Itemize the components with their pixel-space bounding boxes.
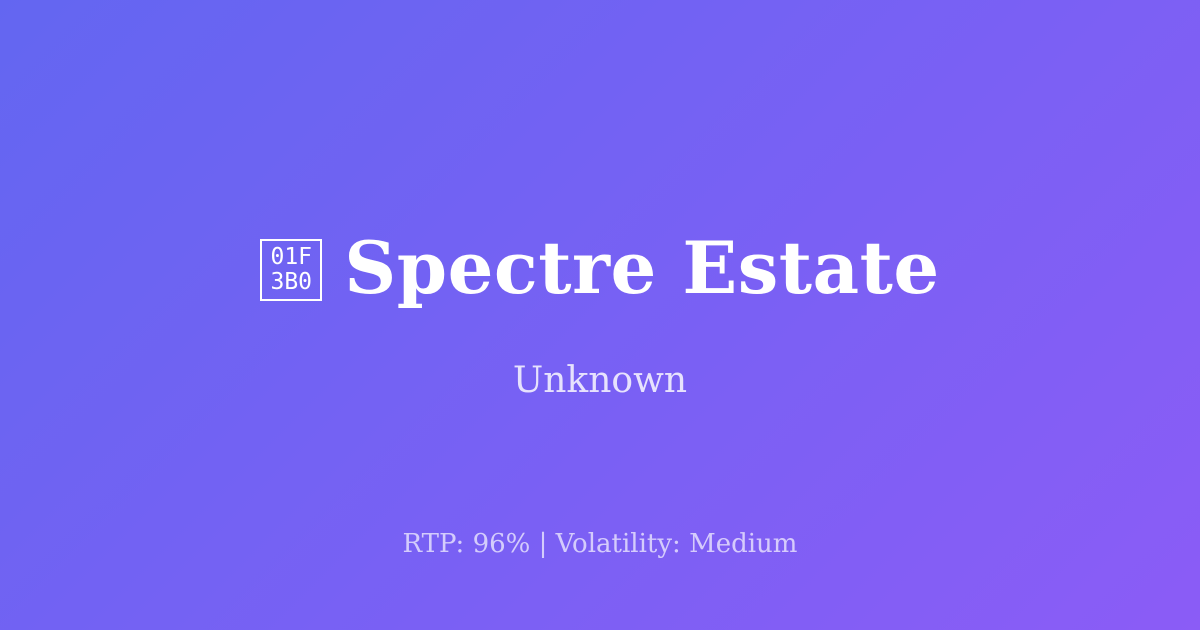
game-provider-subtitle: Unknown <box>513 359 687 402</box>
slot-machine-emoji-icon: 01F 3B0 <box>260 239 322 301</box>
tofu-codepoint-bottom: 3B0 <box>270 270 312 295</box>
game-stats-line: RTP: 96% | Volatility: Medium <box>0 529 1200 560</box>
hero-block: 01F 3B0 Spectre Estate Unknown <box>0 228 1200 402</box>
page-title: Spectre Estate <box>344 228 939 309</box>
tofu-codepoint-top: 01F <box>270 245 312 270</box>
og-card: 01F 3B0 Spectre Estate Unknown RTP: 96% … <box>0 0 1200 630</box>
title-row: 01F 3B0 Spectre Estate <box>0 228 1200 309</box>
